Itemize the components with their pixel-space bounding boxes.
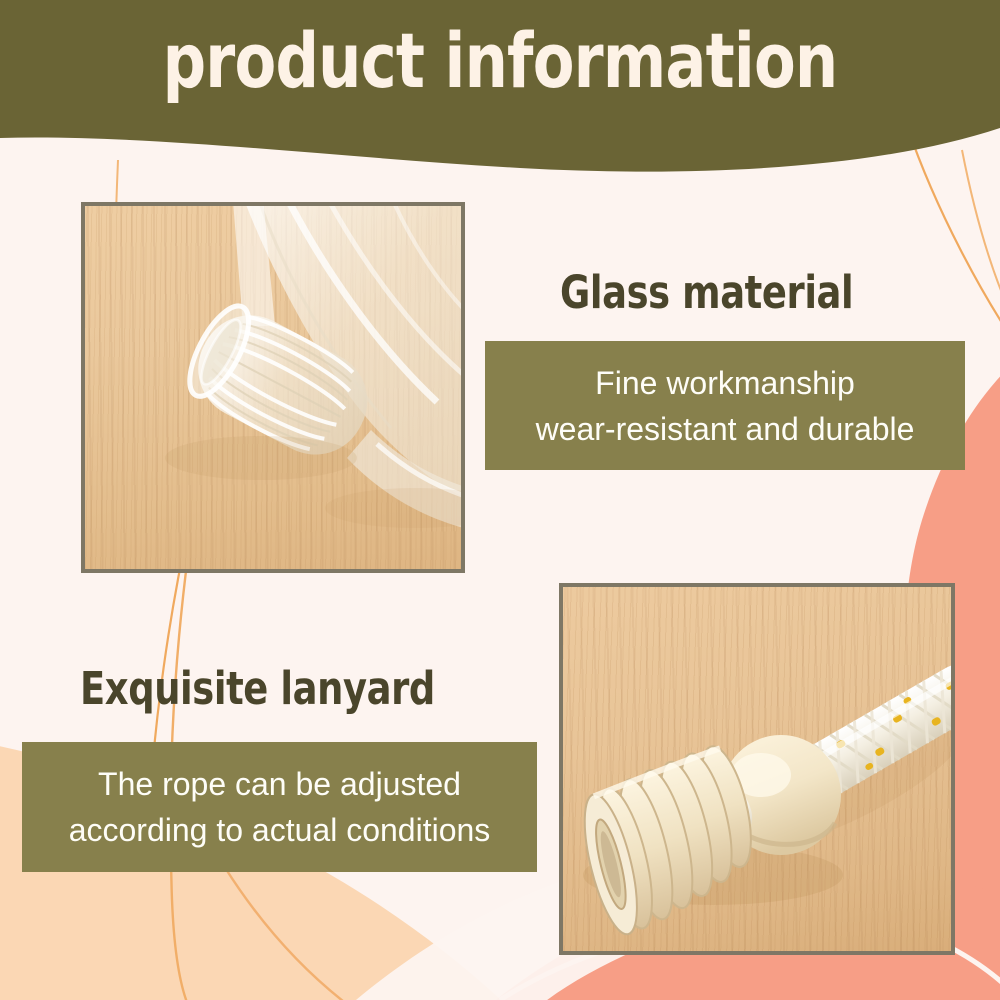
section-heading-glass: Glass material (560, 268, 853, 318)
section-heading-lanyard: Exquisite lanyard (80, 664, 435, 714)
section-caption-lanyard: The rope can be adjusted according to ac… (22, 742, 537, 872)
glass-bottle-illustration (85, 206, 461, 569)
page-title: product information (100, 18, 900, 104)
product-photo-glass (81, 202, 465, 573)
caption-line: according to actual conditions (69, 807, 491, 853)
caption-line: wear-resistant and durable (536, 406, 915, 452)
lanyard-illustration (563, 587, 951, 951)
caption-line: The rope can be adjusted (98, 761, 461, 807)
product-photo-lanyard (559, 583, 955, 955)
caption-line: Fine workmanship (595, 360, 855, 406)
section-caption-glass: Fine workmanship wear-resistant and dura… (485, 341, 965, 470)
product-information-graphic: product information (0, 0, 1000, 1000)
